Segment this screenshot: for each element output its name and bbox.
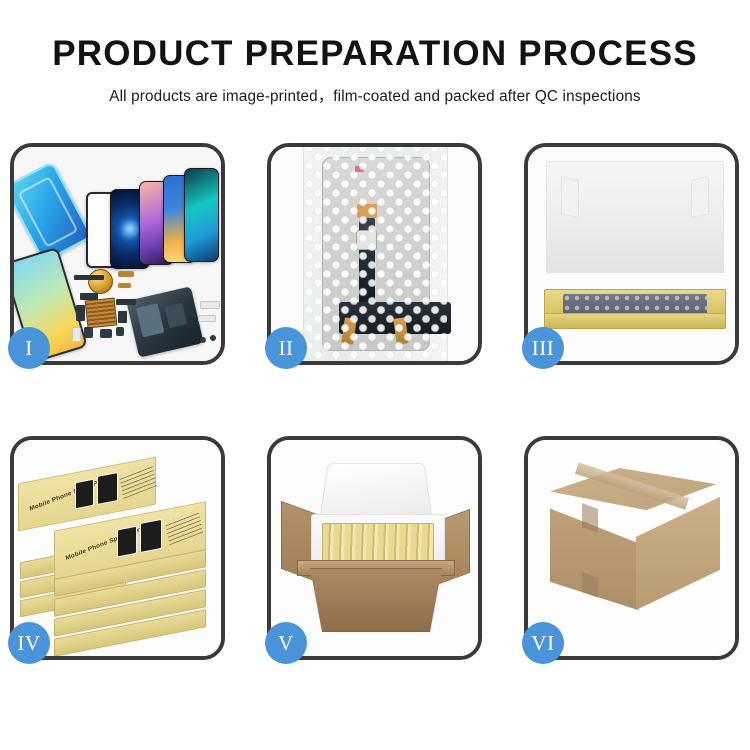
step-panel-4: Mobile Phone Spare Parts Mobile Phone Sp…	[10, 436, 225, 660]
retail-boxes-inside-graphic	[322, 523, 434, 561]
step-badge-4: IV	[8, 622, 50, 664]
step-badge-2: II	[265, 327, 307, 369]
step-1-image	[14, 147, 221, 361]
screw-grid-graphic	[85, 298, 118, 329]
box-artwork-phone-2b	[140, 519, 162, 553]
orange-tape-graphic	[357, 204, 377, 218]
connector-graphic-2	[76, 305, 85, 321]
box-artwork-text-block-2	[165, 510, 203, 546]
bubble-wrap-bag-graphic	[303, 147, 448, 361]
kraft-inner-box-graphic	[544, 289, 726, 329]
lcd-screen-graphic	[322, 157, 430, 351]
page-title: PRODUCT PREPARATION PROCESS	[0, 36, 750, 73]
small-part-graphic-3	[116, 327, 124, 336]
step-badge-6: VI	[522, 622, 564, 664]
step-panel-5: V	[267, 436, 482, 660]
lid-fold-left-graphic	[561, 176, 579, 218]
pink-label-graphic	[355, 166, 364, 172]
white-foam-lid-graphic	[546, 161, 724, 273]
sim-tray-graphic	[72, 327, 81, 342]
connector-graphic-1	[80, 293, 98, 300]
connector-graphic-3	[116, 299, 136, 305]
box-artwork-phone-1b	[97, 472, 118, 505]
earpiece-mesh-graphic	[74, 275, 104, 280]
lcd-flex-tab-left-graphic	[341, 317, 357, 344]
vibration-motor-graphic	[88, 269, 113, 294]
tweezers-graphic	[200, 301, 220, 309]
box-artwork-text-block-1	[119, 463, 157, 499]
screwdriver-graphic	[198, 315, 216, 322]
lcd-connector-graphic	[356, 230, 377, 250]
step-panel-1: I	[10, 143, 225, 365]
box-artwork-phone-1a	[75, 479, 94, 510]
step-4-image: Mobile Phone Spare Parts Mobile Phone Sp…	[14, 440, 221, 656]
page-subtitle: All products are image-printed，film-coat…	[0, 84, 750, 106]
carton-body-graphic	[301, 568, 451, 632]
step-2-image	[271, 147, 478, 361]
teal-gradient-phone-graphic	[184, 168, 219, 262]
step-badge-1: I	[8, 327, 50, 369]
step-5-image	[271, 440, 478, 656]
small-part-graphic-1	[84, 327, 93, 338]
step-badge-5: V	[265, 622, 307, 664]
step-panel-6: VI	[524, 436, 739, 660]
step-6-image	[528, 440, 735, 656]
process-step-grid: I II	[10, 143, 740, 683]
box-artwork-phone-2a	[117, 526, 137, 558]
small-part-graphic-2	[100, 329, 112, 338]
step-3-image	[528, 147, 735, 361]
step-panel-3: III	[524, 143, 739, 365]
step-badge-3: III	[522, 327, 564, 369]
step-panel-2: II	[267, 143, 482, 365]
connector-graphic-4	[118, 311, 127, 323]
flex-cable-graphic-2	[118, 283, 131, 288]
screw-graphic-1	[200, 337, 206, 343]
lid-fold-right-graphic	[691, 176, 709, 218]
box-front-panel-graphic	[545, 313, 725, 328]
header: PRODUCT PREPARATION PROCESS All products…	[0, 0, 750, 106]
flex-cable-graphic-1	[118, 271, 134, 277]
screw-graphic-2	[210, 335, 216, 341]
